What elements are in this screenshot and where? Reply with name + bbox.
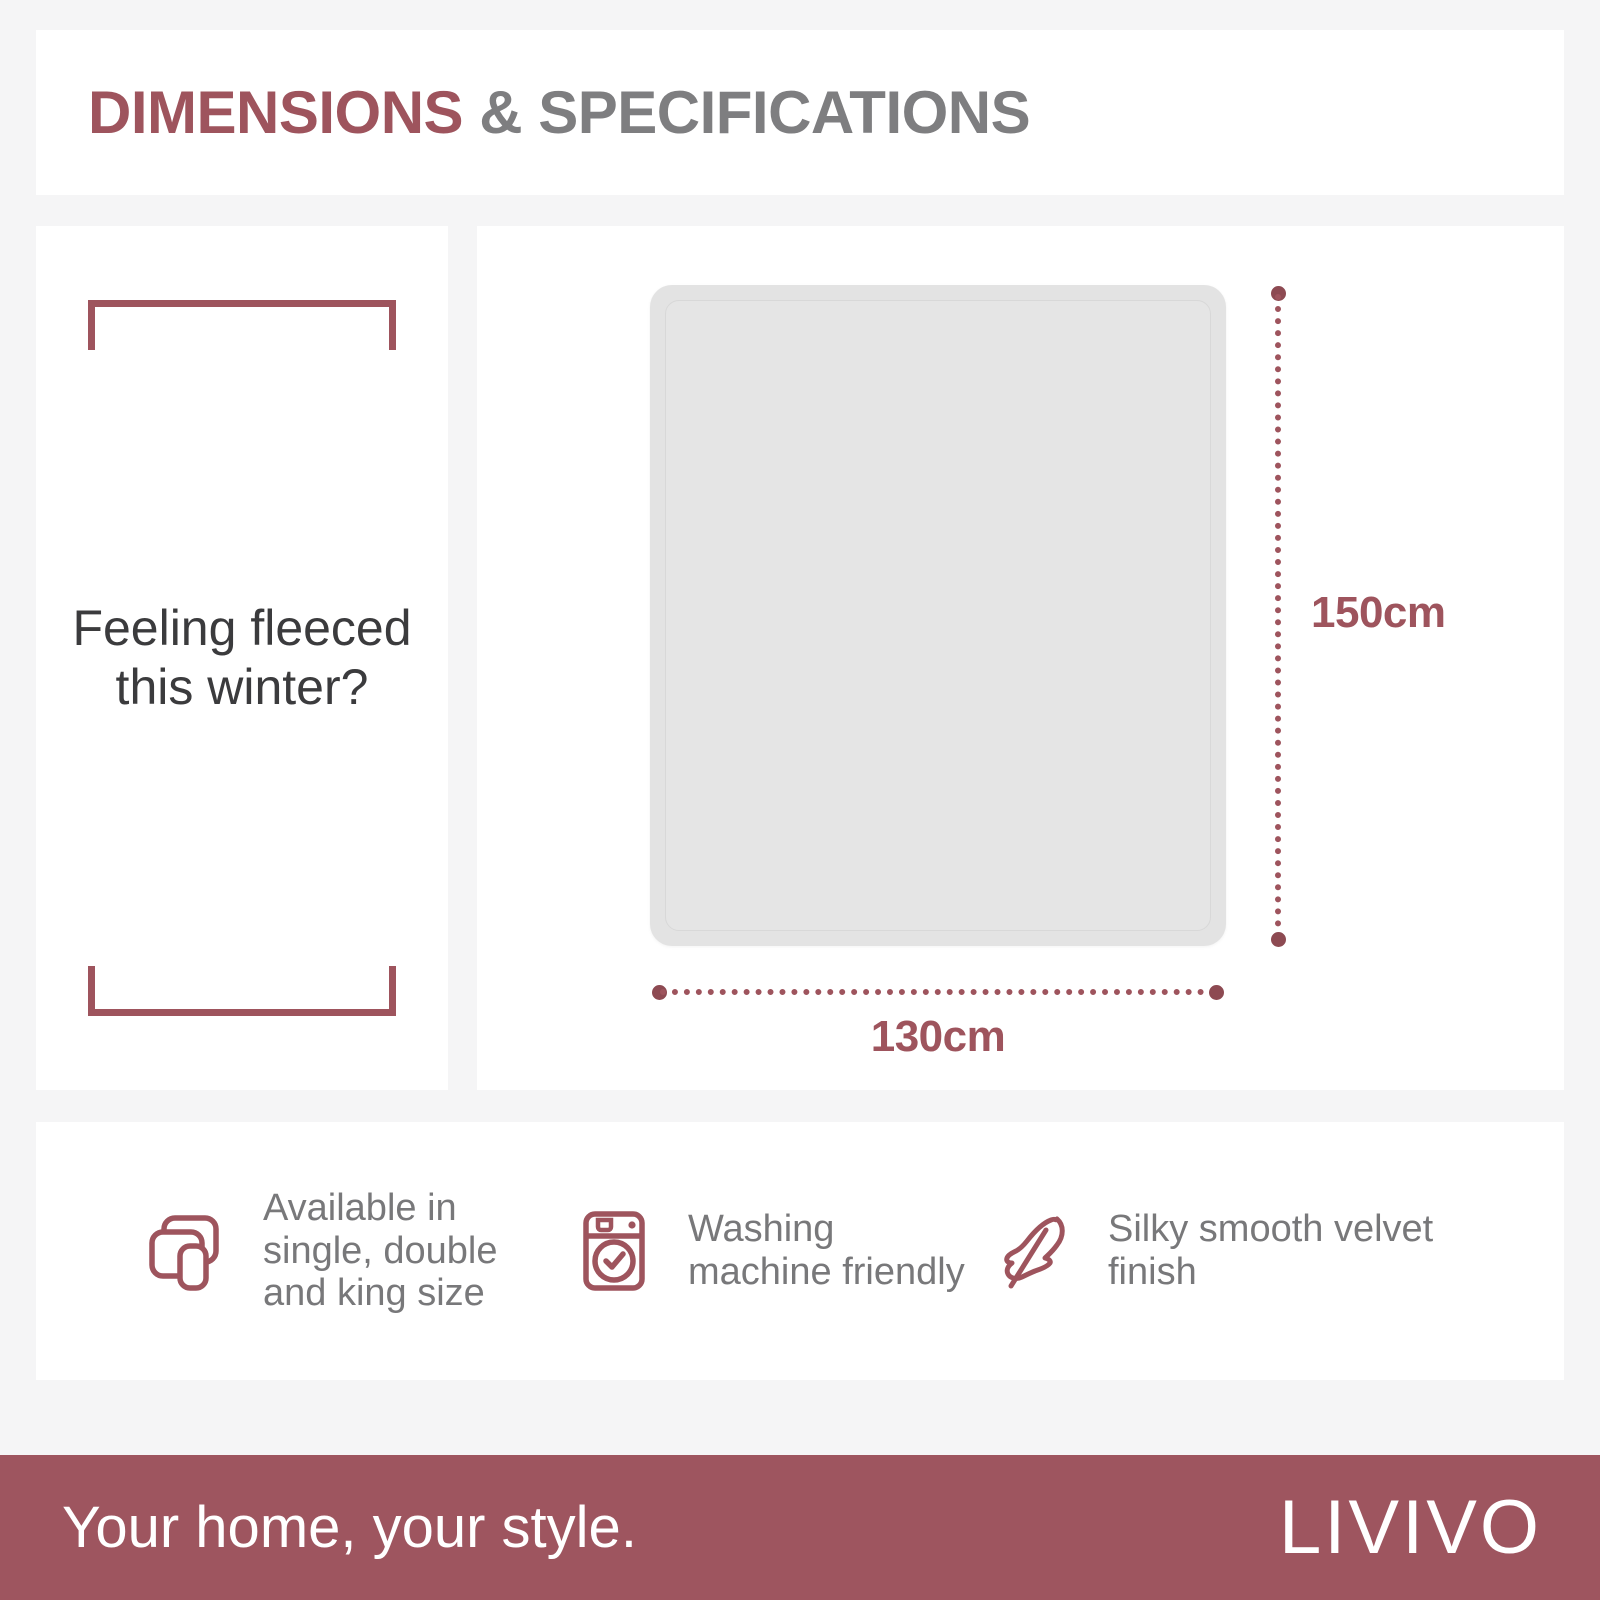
quote-text: Feeling fleeced this winter? xyxy=(36,599,448,717)
dimension-dotted-line xyxy=(660,989,1216,995)
spec-infographic: DIMENSIONS & SPECIFICATIONS Feeling flee… xyxy=(0,0,1600,1600)
brand-logo: LIVIVO xyxy=(1279,1490,1542,1566)
features-card: Available in single, double and king siz… xyxy=(36,1122,1564,1380)
page-title: DIMENSIONS & SPECIFICATIONS xyxy=(88,83,1030,143)
dimension-endpoint-dot xyxy=(1209,985,1224,1000)
feather-icon xyxy=(986,1203,1082,1299)
washing-machine-icon xyxy=(566,1203,662,1299)
page-title-primary: DIMENSIONS xyxy=(88,79,463,146)
horizontal-dimension-line xyxy=(652,986,1224,998)
vertical-dimension-line xyxy=(1272,286,1284,947)
footer-tagline: Your home, your style. xyxy=(62,1499,637,1557)
product-blanket-image xyxy=(650,285,1226,946)
header-card: DIMENSIONS & SPECIFICATIONS xyxy=(36,30,1564,195)
feature-label-washing: Washing machine friendly xyxy=(688,1208,976,1294)
feature-item-finish: Silky smooth velvet finish xyxy=(976,1203,1476,1299)
product-dimensions-card: 150cm 130cm xyxy=(477,226,1564,1090)
height-label: 150cm xyxy=(1311,588,1446,638)
footer-bar: Your home, your style. LIVIVO xyxy=(0,1455,1600,1600)
quote-card: Feeling fleeced this winter? xyxy=(36,226,448,1090)
feature-item-washing: Washing machine friendly xyxy=(556,1203,976,1299)
width-label: 130cm xyxy=(652,1012,1224,1062)
feature-label-finish: Silky smooth velvet finish xyxy=(1108,1208,1476,1294)
dimension-dotted-line xyxy=(1275,294,1281,939)
blanket-stitch-border xyxy=(665,300,1211,931)
bracket-top-decoration xyxy=(88,300,396,350)
bed-sizes-icon xyxy=(141,1203,237,1299)
page-title-secondary: & SPECIFICATIONS xyxy=(479,79,1030,146)
bracket-bottom-decoration xyxy=(88,966,396,1016)
feature-item-sizes: Available in single, double and king siz… xyxy=(36,1187,556,1316)
feature-label-sizes: Available in single, double and king siz… xyxy=(263,1187,556,1316)
dimension-endpoint-dot xyxy=(1271,932,1286,947)
